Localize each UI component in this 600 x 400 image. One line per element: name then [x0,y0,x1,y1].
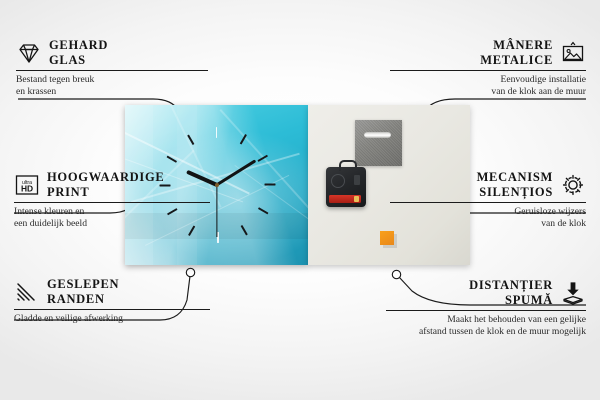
feature-mecanism-silentios: MECANISM SILENȚIOS Geruisloze wijzers va… [376,170,586,230]
feature-gehard-glas: GEHARD GLAS Bestand tegen breuk en krass… [16,38,226,98]
feature-title: GESLEPEN RANDEN [47,277,119,306]
mechanism-dial [331,174,345,188]
beveled-edges-icon [14,279,40,305]
feature-rule [390,70,586,71]
feature-hoogwaardige-print: ultra HD HOOGWAARDIGE PRINT Intense kleu… [14,170,232,230]
feature-desc: Maakt het behouden van een gelijke afsta… [368,314,586,338]
wall-mount-picture-icon [560,40,586,66]
wire-endpoint-geslepen-randen [186,268,194,276]
foam-spacer-arrow-icon [560,280,586,306]
feature-distantier-spuma: DISTANȚIER SPUMĂ Maakt het behouden van … [368,278,586,338]
infographic-canvas: GEHARD GLAS Bestand tegen breuk en krass… [0,0,600,400]
feature-rule [14,309,210,310]
feature-desc: Geruisloze wijzers van de klok [376,206,586,230]
metal-wall-hanger-plate [355,120,402,166]
mechanism-hanger-loop [339,160,357,171]
feature-title: GEHARD GLAS [49,38,108,67]
orange-foam-spacer [380,231,394,245]
gear-icon [560,172,586,198]
feature-title: HOOGWAARDIGE PRINT [47,170,164,199]
svg-text:HD: HD [21,183,33,193]
silent-clock-mechanism [326,167,366,207]
ultra-hd-icon: ultra HD [14,172,40,198]
feature-desc: Gladde en veilige afwerking [14,313,228,325]
feature-rule [386,310,586,311]
hanger-slot [364,132,391,138]
feature-rule [16,70,208,71]
feature-title: MECANISM SILENȚIOS [477,170,553,199]
feature-rule [390,202,586,203]
feature-desc: Bestand tegen breuk en krassen [16,74,226,98]
feature-desc: Intense kleuren en een duidelijk beeld [14,206,232,230]
aa-battery [329,195,361,203]
feature-title: DISTANȚIER SPUMĂ [469,278,553,307]
feature-rule [14,202,210,203]
feature-desc: Eenvoudige installatie van de klok aan d… [374,74,586,98]
diamond-icon [16,40,42,66]
battery-terminal [354,196,359,202]
feature-title: MÂNERE METALICE [480,38,553,67]
feature-geslepen-randen: GESLEPEN RANDEN Gladde en veilige afwerk… [14,277,228,325]
mechanism-pin [354,175,360,185]
feature-manere-metalice: MÂNERE METALICE Eenvoudige installatie v… [374,38,586,98]
